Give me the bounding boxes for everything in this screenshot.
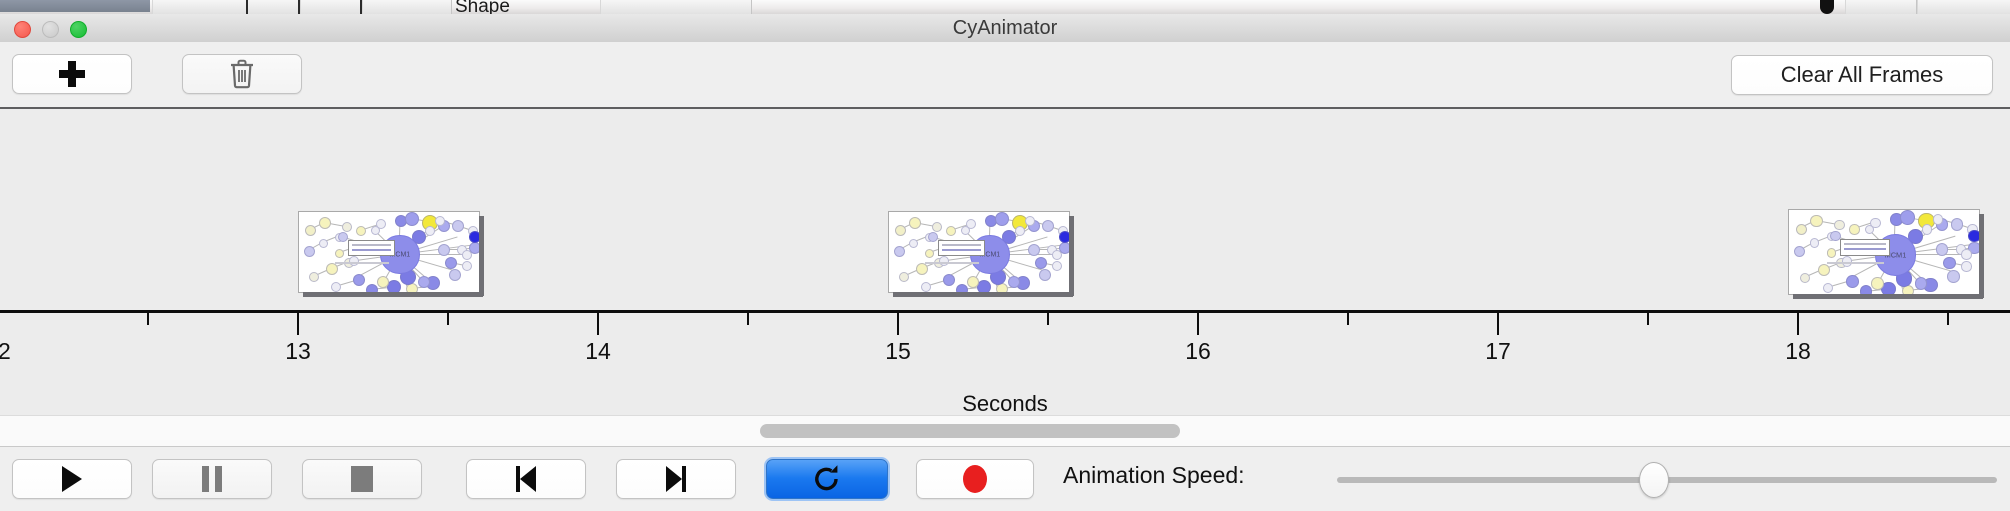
network-node — [909, 239, 918, 248]
axis-title: Seconds — [0, 391, 2010, 415]
clear-all-frames-button[interactable]: Clear All Frames — [1731, 55, 1993, 95]
axis-tick-label: 14 — [585, 338, 611, 365]
background-tab — [1917, 0, 2010, 14]
network-thumbnail: MCM1 — [889, 212, 1069, 292]
network-node — [895, 225, 906, 236]
network-node — [469, 231, 479, 243]
network-node — [995, 212, 1009, 226]
timeline-frame[interactable]: MCM1 — [1788, 209, 1980, 295]
trash-icon — [229, 59, 255, 89]
axis-tick-minor — [747, 313, 749, 325]
play-button[interactable] — [12, 459, 132, 499]
axis-tick-label: 16 — [1185, 338, 1211, 365]
network-node — [1830, 231, 1840, 241]
network-node — [1015, 226, 1025, 236]
network-node — [438, 244, 450, 256]
background-tab — [300, 0, 362, 14]
pause-icon — [202, 466, 222, 492]
frame-shadow — [1069, 216, 1074, 296]
network-node — [1810, 215, 1823, 228]
network-node — [1961, 249, 1971, 259]
network-node — [909, 217, 921, 229]
axis-tick-major — [1497, 313, 1499, 335]
network-node — [326, 263, 338, 275]
record-icon — [963, 465, 987, 493]
network-node — [1827, 248, 1836, 257]
network-node — [1818, 264, 1831, 277]
delete-frame-button[interactable] — [182, 54, 302, 94]
network-node — [1947, 270, 1960, 283]
network-node — [943, 274, 955, 286]
background-window-strip: Shape — [0, 0, 2010, 15]
network-node — [331, 282, 341, 292]
network-node — [319, 217, 331, 229]
scrollbar-thumb[interactable] — [760, 424, 1180, 438]
network-tooltip — [938, 240, 985, 256]
animation-speed-slider-thumb[interactable] — [1639, 462, 1669, 498]
plus-icon — [59, 61, 85, 87]
axis-tick-label: 17 — [1485, 338, 1511, 365]
network-node — [1008, 276, 1020, 288]
prev-frame-button[interactable] — [466, 459, 586, 499]
network-node — [916, 263, 928, 275]
background-tab — [1845, 0, 1917, 14]
network-node — [1035, 257, 1047, 269]
axis-line — [0, 310, 2010, 313]
window-title: CyAnimator — [0, 14, 2010, 42]
network-node — [1860, 285, 1873, 294]
network-node — [1794, 246, 1805, 257]
network-node — [967, 276, 979, 288]
network-annotation — [335, 262, 389, 264]
background-tab — [362, 0, 452, 14]
network-node — [366, 284, 378, 292]
frame-shadow — [479, 216, 484, 296]
network-node — [335, 249, 344, 258]
network-node — [445, 257, 457, 269]
animation-speed-label: Animation Speed: — [1063, 462, 1245, 489]
network-node — [1796, 224, 1807, 235]
loop-button[interactable] — [766, 459, 888, 499]
background-tick — [298, 0, 300, 14]
network-node — [946, 226, 956, 236]
timeline-scrollbar[interactable] — [0, 415, 2010, 447]
network-node — [1800, 273, 1810, 283]
axis-tick-label: 15 — [885, 338, 911, 365]
network-node — [418, 276, 430, 288]
network-tooltip — [1840, 239, 1890, 255]
timeline-panel[interactable]: MCM1MCM1MCM1 12131415161718 Seconds — [0, 109, 2010, 415]
stop-icon — [351, 466, 373, 492]
background-window-label: Shape — [455, 0, 510, 15]
loop-icon — [812, 463, 842, 495]
network-node — [356, 226, 366, 236]
background-window-titlebar — [0, 0, 150, 12]
axis-tick-minor — [1647, 313, 1649, 325]
network-annotation — [1827, 262, 1884, 264]
network-thumbnail: MCM1 — [299, 212, 479, 292]
clear-all-frames-label: Clear All Frames — [1781, 62, 1944, 88]
network-node — [305, 225, 316, 236]
network-node — [462, 250, 472, 260]
network-node — [1871, 277, 1884, 290]
network-node — [405, 212, 419, 226]
network-node — [319, 239, 328, 248]
axis-tick-label: 13 — [285, 338, 311, 365]
network-node — [304, 246, 315, 257]
cyanimator-window: Shape CyAnimator Clear All Frames MCM1MC… — [0, 0, 2010, 510]
skip-forward-icon — [666, 466, 686, 492]
network-node — [956, 284, 968, 292]
network-node — [452, 220, 464, 232]
network-node — [894, 246, 905, 257]
pause-button — [152, 459, 272, 499]
network-node — [462, 261, 472, 271]
network-thumbnail: MCM1 — [1789, 210, 1979, 294]
stop-button — [302, 459, 422, 499]
network-node — [449, 269, 461, 281]
network-annotation — [925, 262, 979, 264]
network-node — [1052, 261, 1062, 271]
frame-shadow — [1979, 214, 1984, 298]
network-node — [377, 276, 389, 288]
axis-tick-major — [597, 313, 599, 335]
axis-tick-minor — [1947, 313, 1949, 325]
network-node — [1834, 220, 1844, 230]
axis-tick-minor — [1347, 313, 1349, 325]
axis-tick-minor — [447, 313, 449, 325]
network-node — [1951, 218, 1964, 231]
axis-tick-major — [1797, 313, 1799, 335]
network-node — [1059, 231, 1069, 243]
next-frame-button[interactable] — [616, 459, 736, 499]
network-node — [1943, 257, 1956, 270]
network-node — [1846, 275, 1859, 288]
background-tab — [152, 0, 299, 14]
network-node — [1968, 230, 1979, 243]
axis-tick-label: 12 — [0, 338, 11, 365]
network-node — [899, 272, 909, 282]
background-marker — [1820, 0, 1834, 14]
network-node — [1810, 238, 1819, 247]
network-node — [1933, 214, 1943, 224]
network-node — [1936, 243, 1949, 256]
timeline-frame[interactable]: MCM1 — [888, 211, 1070, 293]
network-node — [925, 249, 934, 258]
network-node — [425, 226, 435, 236]
background-tick — [246, 0, 248, 14]
network-node — [1961, 261, 1971, 271]
axis-tick-major — [297, 313, 299, 335]
axis-tick-major — [1197, 313, 1199, 335]
network-node — [1028, 244, 1040, 256]
add-frame-button[interactable] — [12, 54, 132, 94]
network-node — [1052, 250, 1062, 260]
axis-tick-major — [897, 313, 899, 335]
network-node — [1915, 277, 1928, 290]
title-bar: CyAnimator — [0, 14, 2010, 43]
network-node — [1039, 269, 1051, 281]
record-button[interactable] — [916, 459, 1034, 499]
network-node — [353, 274, 365, 286]
network-node — [1823, 283, 1833, 293]
axis-tick-label: 18 — [1785, 338, 1811, 365]
axis-tick-minor — [1047, 313, 1049, 325]
play-icon — [62, 466, 82, 492]
network-node — [342, 222, 352, 232]
network-node — [1922, 224, 1932, 234]
network-node — [932, 222, 942, 232]
skip-back-icon — [516, 466, 536, 492]
network-tooltip — [348, 240, 395, 256]
network-node — [1849, 224, 1859, 234]
background-tick — [360, 0, 362, 14]
timeline-frame[interactable]: MCM1 — [298, 211, 480, 293]
network-node — [1042, 220, 1054, 232]
background-tab — [600, 0, 752, 14]
axis-tick-minor — [147, 313, 149, 325]
network-node — [1900, 210, 1915, 225]
network-node — [309, 272, 319, 282]
network-node — [921, 282, 931, 292]
